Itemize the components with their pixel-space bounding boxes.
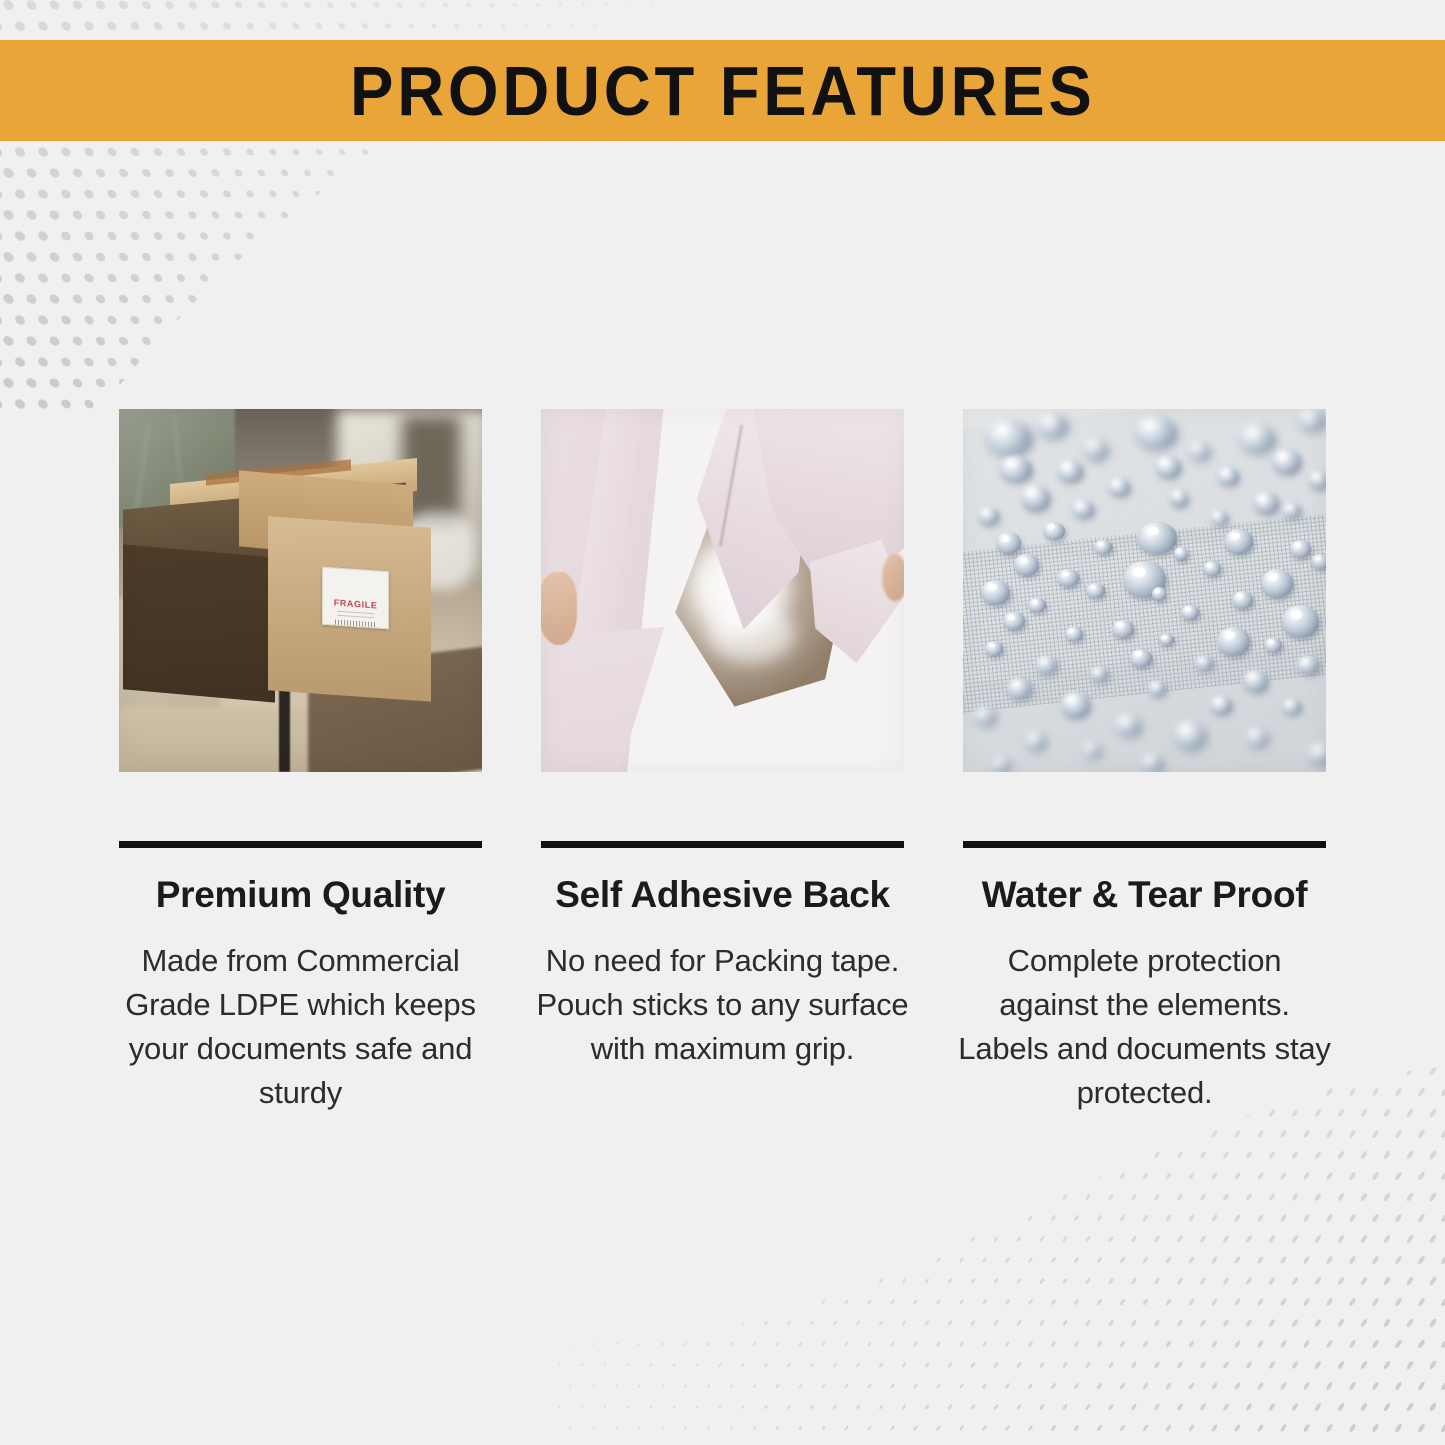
product-features-page: PRODUCT FEATURES [0, 0, 1445, 1445]
water-droplet [1282, 605, 1318, 638]
water-droplet [1210, 511, 1228, 526]
self-adhesive-peel-photo [541, 409, 904, 772]
water-beading-photo [963, 409, 1326, 772]
photo2-hand-thumb [541, 572, 577, 645]
page-title-banner: PRODUCT FEATURES [0, 40, 1445, 141]
water-droplet [1065, 627, 1083, 642]
water-droplet [1007, 678, 1032, 700]
feature-card-self-adhesive-back: Self Adhesive Back No need for Packing t… [541, 409, 904, 1115]
water-droplet [1272, 449, 1301, 474]
water-droplet [985, 641, 1003, 656]
water-droplet [1057, 569, 1079, 587]
feature-divider-rule [119, 841, 482, 848]
water-droplet [1217, 467, 1239, 485]
water-droplet [1036, 656, 1058, 674]
water-droplet [992, 757, 1010, 772]
water-droplet [1210, 696, 1232, 714]
feature-heading: Premium Quality [156, 874, 446, 916]
water-droplet [1311, 554, 1326, 569]
water-droplet [1086, 583, 1104, 598]
water-droplet [1003, 612, 1025, 630]
fragile-label-barcode [336, 619, 376, 627]
water-droplet [1239, 424, 1275, 453]
water-droplet [1308, 471, 1326, 489]
photo2-hand-finger [882, 554, 904, 601]
feature-description: Complete protection against the elements… [955, 939, 1335, 1115]
water-droplet [1170, 489, 1188, 507]
water-droplet [1308, 743, 1326, 765]
water-droplet [1043, 522, 1065, 540]
feature-description: Made from Commercial Grade LDPE which ke… [111, 939, 491, 1115]
water-droplet [1061, 692, 1090, 717]
feature-heading: Self Adhesive Back [555, 874, 890, 916]
fragile-label-rule [337, 610, 375, 614]
water-droplet [1243, 670, 1268, 692]
water-droplet [996, 532, 1021, 554]
water-droplet [1083, 438, 1108, 460]
water-droplet [1217, 627, 1250, 656]
feature-description: No need for Packing tape. Pouch sticks t… [533, 939, 913, 1071]
water-droplet [1057, 460, 1082, 482]
fragile-label-rule [337, 614, 375, 618]
water-droplet [1261, 569, 1294, 598]
water-droplet [1014, 554, 1039, 576]
water-droplet [1188, 442, 1210, 460]
water-droplet [1174, 721, 1207, 750]
feature-divider-rule [963, 841, 1326, 848]
water-droplet [1297, 656, 1319, 674]
water-droplet [1297, 409, 1326, 431]
feature-columns: FRAGILE Premium Quality Made from Commer… [119, 409, 1326, 1115]
water-droplet [1282, 699, 1300, 714]
water-droplet [974, 707, 996, 725]
water-droplet [981, 580, 1010, 605]
water-droplet [1130, 649, 1152, 667]
feature-card-water-tear-proof: Water & Tear Proof Complete protection a… [963, 409, 1326, 1115]
water-droplet [1021, 485, 1050, 510]
water-droplet [1072, 500, 1094, 518]
water-droplet [985, 420, 1032, 456]
water-droplet [1148, 681, 1166, 696]
water-droplet [1137, 522, 1177, 555]
water-droplet [1181, 605, 1199, 620]
water-droplet [1155, 456, 1180, 478]
feature-divider-rule [541, 841, 904, 848]
fragile-label-text: FRAGILE [334, 597, 378, 610]
water-droplet [1159, 634, 1174, 645]
water-droplet [1290, 540, 1312, 558]
feature-heading: Water & Tear Proof [982, 874, 1308, 916]
water-droplet [1134, 416, 1178, 449]
water-droplet [1115, 714, 1140, 736]
water-droplet [1036, 413, 1069, 438]
water-droplet [1141, 754, 1163, 772]
water-droplet [1112, 620, 1134, 638]
water-droplet [1094, 540, 1112, 555]
photo1-bottom-box-side [123, 544, 275, 703]
water-droplet [1246, 728, 1268, 746]
water-droplet [1232, 591, 1254, 609]
water-droplet [999, 456, 1032, 481]
photo1-table-leg [279, 685, 290, 772]
feature-card-premium-quality: FRAGILE Premium Quality Made from Commer… [119, 409, 482, 1115]
water-droplet [1203, 561, 1221, 576]
water-droplet [1253, 492, 1278, 514]
water-droplet [1282, 503, 1300, 518]
page-title: PRODUCT FEATURES [350, 56, 1095, 126]
water-droplet [1108, 478, 1130, 496]
shipping-boxes-photo: FRAGILE [119, 409, 482, 772]
fragile-label-pouch: FRAGILE [322, 566, 389, 629]
photo1-floor [119, 707, 322, 772]
